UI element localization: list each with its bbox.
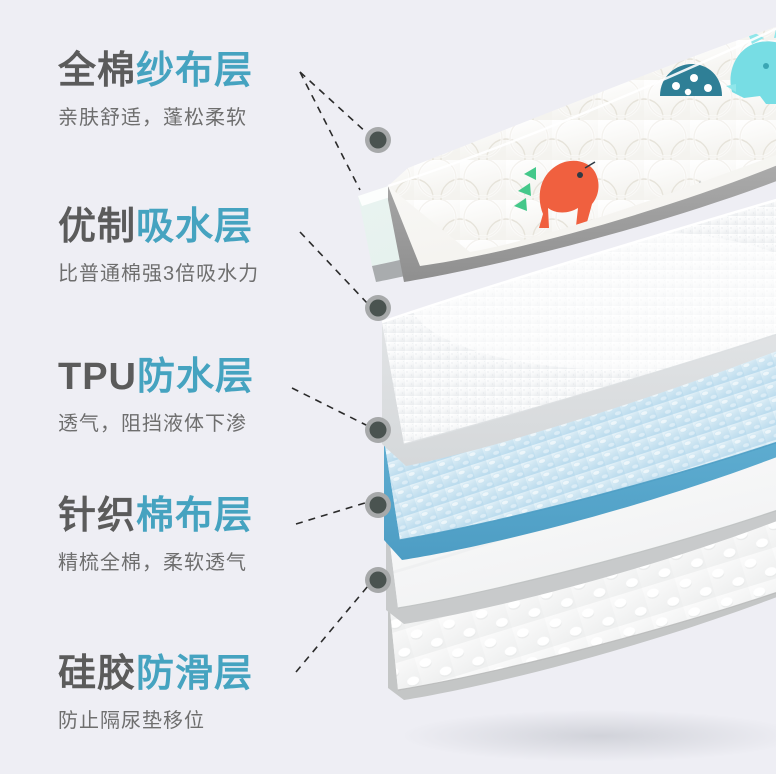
layer-title-accent: 吸水层: [136, 206, 253, 248]
layer-subtitle-absorbent: 比普通棉强3倍吸水力: [58, 257, 259, 286]
layer-title-tpu: TPU防水层: [58, 358, 254, 398]
layer-title-plain: TPU: [58, 356, 137, 398]
layer-title-accent: 纱布层: [136, 50, 253, 92]
layer-title-plain: 全棉: [58, 50, 136, 92]
marker-tpu[interactable]: [365, 417, 391, 443]
layer-title-knit-cotton: 针织棉布层: [58, 497, 253, 537]
layer-label-gauze: 全棉纱布层 亲肤舒适，蓬松柔软: [58, 52, 253, 130]
layer-title-absorbent: 优制吸水层: [58, 208, 259, 248]
layer-title-accent: 防滑层: [136, 653, 253, 695]
layer-title-plain: 硅胶: [58, 653, 136, 695]
layer-subtitle-gauze: 亲肤舒适，蓬松柔软: [58, 101, 253, 130]
leader-line-gauze: [300, 72, 368, 134]
layer-title-silicone: 硅胶防滑层: [58, 655, 253, 695]
layer-label-absorbent: 优制吸水层 比普通棉强3倍吸水力: [58, 208, 259, 286]
layer-label-tpu: TPU防水层 透气，阻挡液体下渗: [58, 358, 254, 436]
marker-gauze[interactable]: [365, 127, 391, 153]
layer-title-plain: 优制: [58, 206, 136, 248]
layer-label-knit-cotton: 针织棉布层 精梳全棉，柔软透气: [58, 497, 253, 575]
layer-subtitle-tpu: 透气，阻挡液体下渗: [58, 407, 254, 436]
layer-title-plain: 针织: [58, 495, 136, 537]
leader-lines: [292, 72, 368, 672]
marker-absorbent[interactable]: [365, 295, 391, 321]
leader-line-tpu: [292, 388, 368, 426]
layer-subtitle-silicone: 防止隔尿垫移位: [58, 704, 253, 733]
layer-title-accent: 防水层: [137, 356, 254, 398]
marker-silicone[interactable]: [365, 567, 391, 593]
infographic-stage: 全棉纱布层 亲肤舒适，蓬松柔软 优制吸水层 比普通棉强3倍吸水力 TPU防水层 …: [0, 0, 776, 774]
layer-title-gauze: 全棉纱布层: [58, 52, 253, 92]
layer-title-accent: 棉布层: [136, 495, 253, 537]
leader-line-knit: [296, 502, 368, 524]
leader-line-gauze-2: [300, 72, 360, 190]
layer-subtitle-knit-cotton: 精梳全棉，柔软透气: [58, 546, 253, 575]
leader-line-silicone: [296, 586, 368, 672]
layer-label-silicone: 硅胶防滑层 防止隔尿垫移位: [58, 655, 253, 733]
marker-knit-cotton[interactable]: [365, 492, 391, 518]
stack-drop-shadow: [400, 710, 776, 762]
leader-line-absorbent: [300, 232, 368, 304]
